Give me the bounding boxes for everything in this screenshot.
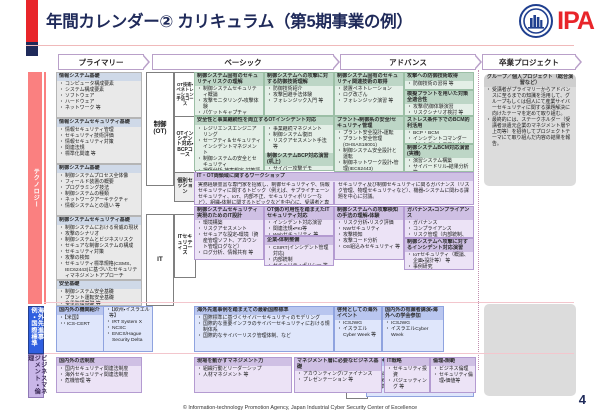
business-card-2-items: アカウンティング/ファイナンス プレゼンテーション 等 (295, 371, 381, 385)
advance-it-card-2-title: 制御システムへ攻撃に対するインシデント対応演習 (405, 239, 473, 252)
business-card-4: 倫理・規範 ビジネス倫理 セキュリティ倫理・価値等 (430, 357, 476, 393)
list-item: 人材マネジメント 等 (200, 373, 289, 379)
icscoe-logo-icon (519, 4, 553, 38)
list-item: セーフティ＆セキュリティインシデントマネジメント (200, 139, 261, 157)
header-red-accent (26, 0, 38, 42)
business-card-1-title: 現場を動かすマネジメント力 (195, 358, 291, 366)
list-item: イスラエルCyber Week 等 (340, 327, 379, 339)
advance-ot-bcp-card-0-title: プラント・制御系の安全/セキュリティ管理 (335, 117, 403, 130)
global-card-2: 海外先進事例を踏まえての最新国際標準 国際標準に基づくサイバーセキュリティのモデ… (194, 306, 334, 352)
rail-global-label: 海外先進事例・国際標準 (30, 307, 43, 353)
basic-ot-tech-card-1: 制御システムへの攻撃に対する防御技術理解 防御技術紹介 攻撃回避手法体験 フォレ… (264, 72, 334, 116)
course-ot-bcp: OTインシデント対応・BCPコース (174, 116, 196, 174)
list-item: セキュリティ標準規格(CSMS、IEC62443)に基づいたセキュリティマネジメ… (62, 262, 139, 280)
advance-ot-tech-card-0-items: 装置ペネトレーション ログ改ざん フォレンジック演習 等 (335, 86, 403, 106)
session-banner-title: IT・OT両領域に関するワークショップ (195, 173, 473, 181)
advance-it-card-1: ガバナンス・コンプライアンス ガバナンス コンプライアンス リスク管理（内部統制… (404, 206, 474, 238)
list-item: OS組込みセキュリティ 等 (340, 245, 401, 251)
advance-ot-bcp-card-0-items: プラント安全設計・運転 プラント安全管理(OHSAS18001) 制御システム安… (335, 130, 403, 172)
primary-card-3-items: 制御システムにおける脅威の現状 攻撃のシナリオ 制御システムとビジネスリスク セ… (57, 225, 141, 280)
basic-ot-bcp-card-0-items: レジリエンスエンジニアリング セーフティ＆セキュリティインシデントマネジメント … (195, 126, 263, 171)
basic-ot-bcp-card-1-items: 事業継続マネジメント 制御システム復旧 リスクアセスメント手法 等 (265, 126, 333, 152)
advance-ot-tech-card-2-items: 攻撃/防御体験演習 リスクシナリオ検討 等 (405, 104, 473, 116)
advance-it-card-2-items: IoTセキュリティ（概論、企画・設計等） 等 事例研究 インシデント対応演習 等 (405, 252, 473, 270)
session-note-advance: セキュリティ及び制御セキュリティに関るガバナンス（リスク管理、物理セキュリティな… (334, 182, 474, 205)
list-item: プレゼンテーション 等 (300, 378, 379, 384)
stage-banner-primary: プライマリー (58, 54, 144, 70)
list-item: ENCS/Hague Security Delta (109, 332, 150, 344)
global-card-3: 啓発としての海外イベント ICSJWG イスラエルCyber Week 等 (334, 306, 382, 352)
list-item: ネットワーク 等 (62, 106, 139, 112)
basic-it-card-1-title: OT側の可用性を踏まえたITセキュリティ対応 (265, 207, 333, 220)
primary-card-1-items: 情報セキュリティ管理 セキュリティ技術評価 情報セキュリティ対策 関連法規 標準… (57, 127, 141, 159)
stage-banner-graduate: 卒業プロジェクト (482, 54, 576, 70)
basic-it-card-2-items: CSIRT(インシデント管理対応) 内部統制 セキュリティポリシー 等 (265, 245, 333, 266)
list-item: ログ分析、情報共有 等 (200, 251, 261, 257)
global-card-0-title: 国内外の機関紹介 (57, 307, 103, 315)
advance-it-card-0-title: 制御システムへの攻撃検知の手法の理解・体験 (335, 207, 403, 220)
business-card-1: 現場を動かすマネジメント力 組織行動とリーダーシップ 人材マネジメント 等 (194, 357, 292, 393)
business-card-4-items: ビジネス倫理 セキュリティ倫理・価値等 (431, 366, 475, 386)
graduate-lower-panel (484, 304, 576, 396)
list-item: リスクアセスメント手法 等 (270, 139, 331, 151)
basic-it-card-0-title: 制御システムセキュリティ実現のためのIT設計 (195, 207, 263, 220)
business-card-3: IT戦略 セキュリティ投資 バジェッティング 等 (384, 357, 430, 393)
list-item: 事例研究 (410, 265, 471, 270)
band-divider-business (44, 353, 574, 354)
basic-ot-bcp-card-2-title: 制御システムBCP対応演習(机上) (265, 153, 333, 166)
business-card-0: 国内外の法制度 国内セキュリティ関連法制度 海外セキュリティ関連法制度 危機管理… (56, 357, 142, 393)
business-card-0-title: 国内外の法制度 (57, 358, 141, 366)
list-item: ・ICS-CERT (62, 322, 101, 328)
graduate-project-items: 受講者がプライマリーからアドバンスに至るまでの知識を活用して、グループもしくは個… (484, 87, 576, 149)
global-card-1-items: 【欧州・イスラエル等】 IRT System X NCSC ENCS/Hague… (104, 307, 152, 345)
primary-card-0-items: コンピュータ構成要素 システム構成要素 ソフトウェア ハードウェア ネットワーク… (57, 81, 141, 113)
advance-ot-bcp-card-0: プラント・制御系の安全/セキュリティ管理 プラント安全設計・運転 プラント安全管… (334, 116, 404, 172)
basic-ot-tech-card-0: 制御システム固有のセキュリティリスクの理解 制御システムセキュリティ概論 攻撃モ… (194, 72, 264, 116)
global-card-4-title: 国内外の有識者講演・海外への学会参加 (383, 307, 443, 320)
advance-ot-bcp-card-2: 制御システムBCM対応演習(実機) 演習システム構築 サイバードリル・結果分析 … (404, 144, 474, 172)
list-item: 受講者がプライマリーからアドバンスに至るまでの知識を活用して、グループもしくは個… (489, 88, 574, 118)
session-note-basic: 実務経験豊富な専門家を招致し、制御セキュリティや、情報セキュリティに関するトピッ… (194, 182, 334, 205)
session-note-advance-text: セキュリティ及び制御セキュリティに関るガバナンス（リスク管理、物理セキュリティな… (335, 182, 473, 202)
primary-card-1: 情報システムセキュリティ基礎 情報セキュリティ管理 セキュリティ技術評価 情報セ… (56, 118, 142, 164)
global-card-3-title: 啓発としての海外イベント (335, 307, 381, 320)
course-ot-tech: OT技術・ペネトレーション手法コース (174, 72, 196, 118)
global-card-1: 【欧州・イスラエル等】 IRT System X NCSC ENCS/Hague… (104, 306, 153, 352)
business-card-3-title: IT戦略 (385, 358, 429, 366)
list-item: セキュアな設定・環境（資産管理ソフト、アカウント管理ログなど） (200, 233, 261, 251)
session-note-basic-text: 実務経験豊富な専門家を招致し、制御セキュリティや、情報セキュリティに関するトピッ… (195, 182, 333, 205)
list-item: 危機管理 等 (62, 379, 139, 385)
header-divider (26, 45, 574, 46)
basic-it-card-1: OT側の可用性を踏まえたITセキュリティ対応 インシデント対応演習 関連法規・P… (264, 206, 334, 236)
stage-banner-basic: ベーシック (152, 54, 334, 70)
primary-card-0: 情報システム基礎 コンピュータ構成要素 システム構成要素 ソフトウェア ハードウ… (56, 72, 142, 118)
rail-technology-label: テクノロジー (32, 168, 39, 208)
advance-ot-tech-card-1-title: 攻撃への防御技術取得 (405, 73, 473, 81)
advance-ot-tech-card-2: 模擬プラントを用いた対策全適合性 攻撃/防御体験演習 リスクシナリオ検討 等 (404, 90, 474, 116)
list-item: CSIRT(インシデント管理対応) (270, 246, 331, 258)
list-item: 損傷分析・被害想定・対策評価 (200, 169, 261, 171)
list-item: 制御システムの安全とセキュリティ (200, 157, 261, 169)
global-card-2-items: 国際標準に基づくサイバーセキュリティのモデリング 国際的な重要インフラのサイバー… (195, 315, 333, 341)
advance-ot-tech-card-0: 制御システム固有のセキュリティ関連技術の取得 装置ペネトレーション ログ改ざん … (334, 72, 404, 116)
list-item: 国際的なサイバーリスク管理体制、など (200, 334, 331, 340)
primary-card-4-items: 制御システム安全基礎 プラント運転安全基礎 多重防護基礎 等 (57, 289, 141, 306)
business-card-1-items: 組織行動とリーダーシップ 人材マネジメント 等 (195, 366, 291, 380)
global-card-0: 国内外の機関紹介 【米国】 ・ICS-CERT (56, 306, 104, 352)
ipa-logo: IPA (519, 4, 594, 38)
advance-it-card-0-items: リスク分析・リスク評価 NWセキュリティ 攻撃検知 攻撃コード分析 OS組込みセ… (335, 220, 403, 252)
graduate-project-title: グループ／個人プロジェクト（総合演習など） (484, 74, 576, 87)
list-item: サイバー攻撃デモ (270, 167, 331, 171)
track-label-it: IT (146, 214, 174, 306)
global-card-3-items: ICSJWG イスラエルCyber Week 等 (335, 320, 381, 340)
basic-it-card-2-title: 企業・体制整備 (265, 237, 333, 245)
basic-ot-bcp-card-0: レジリエンスエンジニアリング セーフティ＆セキュリティインシデントマネジメント … (194, 126, 264, 171)
track-label-ot: 制御 (OT) (146, 72, 174, 186)
primary-card-0-title: 情報システム基礎 (57, 73, 141, 81)
business-card-0-items: 国内セキュリティ関連法制度 海外セキュリティ関連法制度 危機管理 等 (57, 366, 141, 386)
list-item: セキュリティ投資 (390, 367, 427, 379)
list-item: 攻撃モニタリング・攻撃体験 (200, 99, 261, 111)
rail-global: 海外先進事例・国際標準 (28, 306, 44, 354)
advance-ot-bcp-card-1: ストレス条件下でのBCM的利活用 BCP・BCM インシデントコマンダー インシ… (404, 116, 474, 144)
advance-ot-tech-card-2-title: 模擬プラントを用いた対策全適合性 (405, 91, 473, 104)
list-item: 制御ネットワーク設計・管理(IEC62443) (340, 161, 401, 172)
list-item: 標準化関連 等 (62, 152, 139, 158)
list-item: IoTセキュリティ（概論、企画・設計等） 等 (410, 253, 471, 265)
advance-ot-bcp-card-1-items: BCP・BCM インシデントコマンダー インシデントコマンドシステム等 (405, 130, 473, 144)
page-number: 4 (579, 392, 586, 407)
primary-card-3: 制御システムセキュリティ基礎 制御システムにおける脅威の現状 攻撃のシナリオ 制… (56, 216, 142, 280)
primary-card-1-title: 情報システムセキュリティ基礎 (57, 119, 141, 127)
rail-technology: テクノロジー (28, 72, 42, 304)
basic-ot-tech-card-1-title: 制御システムへの攻撃に対する防御技術理解 (265, 73, 333, 86)
primary-card-2-items: 制御システムプロセス全体像 フィールド装置の概要 プログラミング技法 制御システ… (57, 173, 141, 211)
list-item: 情報システムとの違い 等 (62, 204, 139, 210)
course-it-security: ITセキュリティコース (174, 214, 196, 278)
page-title: 年間カレンダー② カリキュラム（第5期事業の例） (46, 8, 413, 32)
list-item: バジェッティング 等 (390, 379, 427, 391)
basic-it-card-0-items: 環境構築 リスクアセスメント セキュアな設定・環境（資産管理ソフト、アカウント管… (195, 220, 263, 258)
graduate-project-panel: グループ／個人プロジェクト（総合演習など） 受講者がプライマリーからアドバンスに… (484, 74, 576, 186)
course-individual-session: 個別セッション (174, 172, 196, 202)
primary-card-4-title: 安全基礎 (57, 281, 141, 289)
list-item: 制御システム安全設計と運転 (340, 149, 401, 161)
ipa-logo-text: IPA (557, 9, 594, 34)
business-card-4-title: 倫理・規範 (431, 358, 475, 366)
list-item: 【欧州・イスラエル等】 (109, 308, 150, 320)
rail-business: ビジネスマネジメント・倫理 (28, 354, 44, 398)
list-item: 最終的には、ステークホルダー（受講者派遣元企業のマネジメント層や上司等）を招待し… (489, 118, 574, 148)
advance-ot-bcp-card-2-title: 制御システムBCM対応演習(実機) (405, 145, 473, 158)
primary-card-2-title: 制御システム基礎 (57, 165, 141, 173)
basic-ot-bcp-banner-title: 安全性と事業継続性を両立するOTインシデント対応 (195, 117, 333, 125)
list-item: イスラエルCyber Week (388, 327, 441, 339)
list-item: セキュリティポリシー 等 (270, 264, 331, 266)
basic-ot-tech-card-0-title: 制御システム固有のセキュリティリスクの理解 (195, 73, 263, 86)
advance-ot-bcp-card-2-items: 演習システム構築 サイバードリル・結果分析 等 (予防・緊急・復旧フェーズ) (405, 158, 473, 172)
basic-ot-bcp-card-1: 事業継続マネジメント 制御システム復旧 リスクアセスメント手法 等 制御システム… (264, 126, 334, 171)
rail-business-label: ビジネスマネジメント・倫理 (26, 355, 46, 397)
business-card-3-items: セキュリティ投資 バジェッティング 等 (385, 366, 429, 392)
advance-it-card-1-title: ガバナンス・コンプライアンス (405, 207, 473, 220)
global-card-0-items: 【米国】 ・ICS-CERT (57, 315, 103, 329)
list-item: 制御システムセキュリティ概論 (200, 87, 261, 99)
global-card-4-items: ICSJWG イスラエルCyber Week (383, 320, 443, 340)
global-card-4: 国内外の有識者講演・海外への学会参加 ICSJWG イスラエルCyber Wee… (382, 306, 444, 352)
advance-ot-bcp-card-1-title: ストレス条件下でのBCM的利活用 (405, 117, 473, 130)
advance-ot-tech-card-1: 攻撃への防御技術取得 防御技術の習得 等 (404, 72, 474, 90)
graduate-divider (478, 70, 479, 370)
list-item: 防御技術の習得 等 (410, 82, 471, 88)
stage-banner-advance: アドバンス (340, 54, 476, 70)
band-divider-global (44, 302, 574, 303)
global-card-2-title: 海外先進事例を踏まえての最新国際標準 (195, 307, 333, 315)
advance-it-card-2: 制御システムへ攻撃に対するインシデント対応演習 IoTセキュリティ（概論、企画・… (404, 238, 474, 270)
basic-ot-tech-card-1-items: 防御技術紹介 攻撃回避手法体験 フォレンジック入門 等 (265, 86, 333, 106)
list-item: 国際的な重要インフラのサイバーセキュリティにおける規制体系 (200, 322, 331, 334)
business-card-2: マネジメント層に必要なビジネス基礎 アカウンティング/ファイナンス プレゼンテー… (294, 357, 382, 393)
advance-it-card-0: 制御システムへの攻撃検知の手法の理解・体験 リスク分析・リスク評価 NWセキュリ… (334, 206, 404, 260)
advance-it-card-1-items: ガバナンス コンプライアンス リスク管理（内部統制、外部委託等） 等 (405, 220, 473, 238)
slide-root: 年間カレンダー② カリキュラム（第5期事業の例） IPA プライマリー ベーシッ… (0, 0, 600, 415)
list-item: フォレンジック入門 等 (270, 99, 331, 105)
basic-it-card-0: 制御システムセキュリティ実現のためのIT設計 環境構築 リスクアセスメント セキ… (194, 206, 264, 260)
footer-copyright: © Information-technology Promotion Agenc… (0, 405, 600, 411)
list-item: セキュリティ倫理・価値等 (436, 373, 473, 385)
basic-ot-bcp-card-2-items: サイバー攻撃デモ テストベッド構築 BCP作成 サイバー机上演習 等 (265, 166, 333, 171)
list-item: サイバードリル・結果分析 等 (410, 165, 471, 172)
business-card-2-title: マネジメント層に必要なビジネス基礎 (295, 358, 381, 371)
primary-column-edge (44, 72, 46, 304)
basic-ot-tech-card-0-items: 制御システムセキュリティ概論 攻撃モニタリング・攻撃体験 パケットキャプチャ ペ… (195, 86, 263, 116)
list-item: レジリエンスエンジニアリング (200, 127, 261, 139)
primary-card-2: 制御システム基礎 制御システムプロセス全体像 フィールド装置の概要 プログラミン… (56, 164, 142, 216)
basic-it-card-1-items: インシデント対応演習 関連法規・PKI等 Webセキュリティ 等 (265, 220, 333, 236)
advance-ot-tech-card-1-items: 防御技術の習得 等 (405, 81, 473, 89)
list-item: フォレンジック演習 等 (340, 99, 401, 105)
basic-it-card-2: 企業・体制整備 CSIRT(インシデント管理対応) 内部統制 セキュリティポリシ… (264, 236, 334, 266)
primary-card-3-title: 制御システムセキュリティ基礎 (57, 217, 141, 225)
advance-ot-tech-card-0-title: 制御システム固有のセキュリティ関連技術の取得 (335, 73, 403, 86)
list-item: プラント安全管理(OHSAS18001) (340, 137, 401, 149)
